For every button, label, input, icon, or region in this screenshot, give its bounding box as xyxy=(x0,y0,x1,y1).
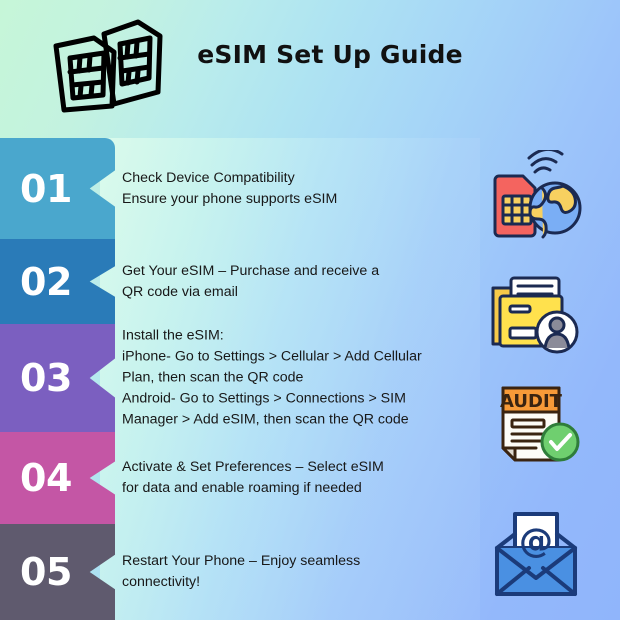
step-text-05: Restart Your Phone – Enjoy seamless conn… xyxy=(122,551,452,593)
step-number-01: 01 xyxy=(0,170,92,208)
dual-sim-cards-icon xyxy=(42,16,172,116)
step-text-01: Check Device Compatibility Ensure your p… xyxy=(122,168,452,210)
step-number-03: 03 xyxy=(0,359,92,397)
audit-label: AUDIT xyxy=(500,391,563,412)
step-text-03: Install the eSIM: iPhone- Go to Settings… xyxy=(122,326,452,431)
page-title: eSIM Set Up Guide xyxy=(180,40,480,69)
folder-user-profile-icon xyxy=(485,262,585,354)
sim-card-globe-icon xyxy=(485,150,585,242)
step-number-05: 05 xyxy=(0,553,92,591)
step-number-04: 04 xyxy=(0,459,92,497)
step-number-02: 02 xyxy=(0,263,92,301)
esim-setup-guide-infographic: eSIM Set Up Guide 01 Check Device Compat… xyxy=(0,0,620,620)
at-symbol: @ xyxy=(519,521,553,561)
audit-document-check-icon: AUDIT xyxy=(485,378,585,470)
step-text-02: Get Your eSIM – Purchase and receive a Q… xyxy=(122,261,452,303)
step-text-04: Activate & Set Preferences – Select eSIM… xyxy=(122,457,452,499)
email-envelope-at-icon: @ xyxy=(485,508,585,600)
header: eSIM Set Up Guide xyxy=(0,0,620,130)
